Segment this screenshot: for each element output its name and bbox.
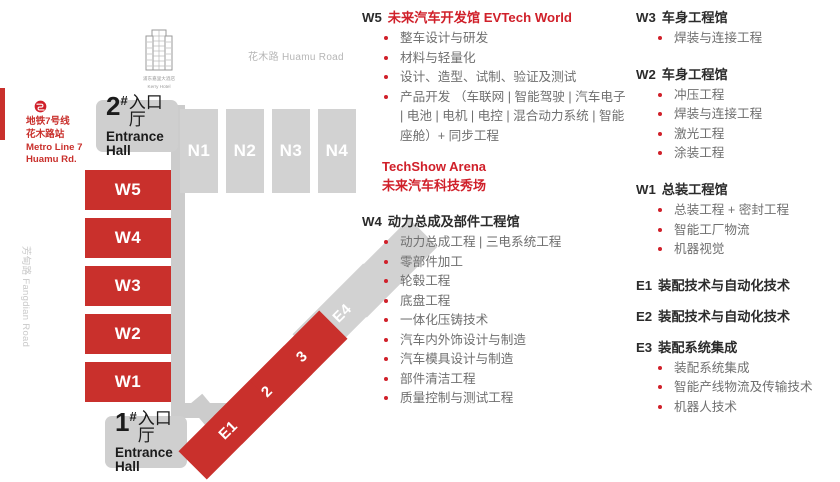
- hall-e1[interactable]: E1: [179, 381, 278, 480]
- section-w2-title: 车身工程馆: [662, 65, 840, 84]
- hall-w1[interactable]: W1: [85, 362, 171, 402]
- section-w1-title: 总装工程馆: [662, 180, 840, 199]
- section-e2-code: E2: [636, 307, 652, 326]
- entrance-2-label-cn: 入口厅: [129, 94, 170, 128]
- list-item: 智能产线物流及传输技术: [656, 378, 840, 398]
- section-e3-title: 装配系统集成: [658, 338, 840, 357]
- hall-w3[interactable]: W3: [85, 266, 171, 306]
- hall-description-column-middle: W5 未来汽车开发馆 EVTech World 整车设计与研发 材料与轻量化 设…: [362, 8, 630, 414]
- list-item: 部件清洁工程: [382, 370, 630, 390]
- section-w4-heading: W4 动力总成及部件工程馆: [362, 212, 630, 231]
- section-w1: W1 总装工程馆 总装工程 + 密封工程 智能工厂物流 机器视觉: [636, 180, 840, 260]
- section-w1-items: 总装工程 + 密封工程 智能工厂物流 机器视觉: [656, 201, 840, 260]
- section-w3-items: 焊装与连接工程: [656, 29, 840, 49]
- list-item: 焊装与连接工程: [656, 105, 840, 125]
- section-w5-items: 整车设计与研发 材料与轻量化 设计、造型、试制、验证及测试 产品开发 （车联网 …: [382, 29, 630, 146]
- section-w2-heading: W2 车身工程馆: [636, 65, 840, 84]
- spacer: [636, 265, 840, 276]
- metro-line-en: Metro Line 7: [26, 142, 90, 155]
- list-item: 质量控制与测试工程: [382, 389, 630, 409]
- list-item: 产品开发 （车联网 | 智能驾驶 | 汽车电子 | 电池 | 电机 | 电控 |…: [382, 88, 630, 147]
- list-item: 材料与轻量化: [382, 49, 630, 69]
- spacer: [636, 54, 840, 65]
- hall-n4[interactable]: N4: [318, 109, 356, 193]
- section-w2-items: 冲压工程 焊装与连接工程 激光工程 涂装工程: [656, 86, 840, 164]
- hall-w5[interactable]: W5: [85, 170, 171, 210]
- hotel-building-icon: [144, 28, 174, 74]
- section-w5-code: W5: [362, 8, 382, 27]
- section-w1-heading: W1 总装工程馆: [636, 180, 840, 199]
- section-w5-heading: W5 未来汽车开发馆 EVTech World: [362, 8, 630, 27]
- section-e3-heading: E3 装配系统集成: [636, 338, 840, 357]
- techshow-arena-highlight: TechShow Arena 未来汽车科技秀场: [382, 158, 630, 196]
- list-item: 冲压工程: [656, 86, 840, 106]
- hotel-label-cn: 浦东嘉里大酒店: [133, 76, 185, 82]
- section-e1-code: E1: [636, 276, 652, 295]
- kerry-hotel-marker: 浦东嘉里大酒店 Kerry Hotel: [133, 28, 185, 90]
- list-item: 涂装工程: [656, 144, 840, 164]
- metro-station-en: Huamu Rd.: [26, 154, 90, 167]
- section-w3-heading: W3 车身工程馆: [636, 8, 840, 27]
- hall-n2[interactable]: N2: [226, 109, 264, 193]
- section-w4-title: 动力总成及部件工程馆: [388, 212, 630, 231]
- list-item: 底盘工程: [382, 292, 630, 312]
- list-item: 轮毂工程: [382, 272, 630, 292]
- spacer: [636, 169, 840, 180]
- list-item: 零部件加工: [382, 253, 630, 273]
- section-e2: E2 装配技术与自动化技术: [636, 307, 840, 326]
- list-item: 设计、造型、试制、验证及测试: [382, 68, 630, 88]
- spacer: [362, 196, 630, 212]
- section-e3: E3 装配系统集成 装配系统集成 智能产线物流及传输技术 机器人技术: [636, 338, 840, 418]
- techshow-arena-cn: 未来汽车科技秀场: [382, 177, 630, 196]
- walkway-west-spine: [171, 160, 185, 415]
- entrance-hall-2[interactable]: 2 # 入口厅 Entrance Hall: [96, 100, 178, 152]
- section-e3-code: E3: [636, 338, 652, 357]
- section-e3-items: 装配系统集成 智能产线物流及传输技术 机器人技术: [656, 359, 840, 418]
- hotel-label-en: Kerry Hotel: [133, 84, 185, 90]
- list-item: 装配系统集成: [656, 359, 840, 379]
- metro-station-cn: 花木路站: [26, 129, 90, 142]
- metro-station-marker: 地铁7号线 花木路站 Metro Line 7 Huamu Rd.: [26, 100, 90, 167]
- list-item: 机器视觉: [656, 240, 840, 260]
- hall-n3[interactable]: N3: [272, 109, 310, 193]
- techshow-arena-en: TechShow Arena: [382, 158, 630, 177]
- entrance-1-label-cn: 入口厅: [138, 410, 179, 444]
- section-w4-code: W4: [362, 212, 382, 231]
- section-e1-title: 装配技术与自动化技术: [658, 276, 840, 295]
- section-w4: W4 动力总成及部件工程馆 动力总成工程 | 三电系统工程 零部件加工 轮毂工程…: [362, 212, 630, 409]
- section-w5: W5 未来汽车开发馆 EVTech World 整车设计与研发 材料与轻量化 设…: [362, 8, 630, 146]
- list-item: 动力总成工程 | 三电系统工程: [382, 233, 630, 253]
- venue-floor-map: 浦东嘉里大酒店 Kerry Hotel 花木路 Huamu Road 芳甸路 F…: [0, 0, 362, 482]
- entrance-1-hash: #: [129, 410, 136, 423]
- hall-w4[interactable]: W4: [85, 218, 171, 258]
- section-w2-code: W2: [636, 65, 656, 84]
- section-e2-heading: E2 装配技术与自动化技术: [636, 307, 840, 326]
- section-w3-title: 车身工程馆: [662, 8, 840, 27]
- road-label-fangdian: 芳甸路 Fangdian Road: [20, 246, 34, 347]
- section-w5-title-cn: 未来汽车开发馆: [388, 10, 480, 25]
- metro-logo-icon: [34, 100, 47, 113]
- section-w4-items: 动力总成工程 | 三电系统工程 零部件加工 轮毂工程 底盘工程 一体化压铸技术 …: [382, 233, 630, 409]
- section-w2: W2 车身工程馆 冲压工程 焊装与连接工程 激光工程 涂装工程: [636, 65, 840, 164]
- entrance-1-label-en: Entrance Hall: [115, 446, 179, 473]
- section-w5-title: 未来汽车开发馆 EVTech World: [388, 8, 630, 27]
- entrance-2-number: 2: [106, 94, 120, 119]
- hall-n1[interactable]: N1: [180, 109, 218, 193]
- list-item: 智能工厂物流: [656, 221, 840, 241]
- section-e2-title: 装配技术与自动化技术: [658, 307, 840, 326]
- section-e1: E1 装配技术与自动化技术: [636, 276, 840, 295]
- hall-description-column-right: W3 车身工程馆 焊装与连接工程 W2 车身工程馆 冲压工程 焊装与连接工程 激…: [636, 8, 840, 423]
- spacer: [636, 300, 840, 307]
- metro-line-cn: 地铁7号线: [26, 116, 90, 129]
- section-w3: W3 车身工程馆 焊装与连接工程: [636, 8, 840, 49]
- entrance-1-number: 1: [115, 410, 129, 435]
- list-item: 汽车模具设计与制造: [382, 350, 630, 370]
- list-item: 总装工程 + 密封工程: [656, 201, 840, 221]
- section-e1-heading: E1 装配技术与自动化技术: [636, 276, 840, 295]
- entrance-2-label-en: Entrance Hall: [106, 130, 170, 157]
- list-item: 整车设计与研发: [382, 29, 630, 49]
- hall-w2[interactable]: W2: [85, 314, 171, 354]
- entrance-hall-1[interactable]: 1 # 入口厅 Entrance Hall: [105, 416, 187, 468]
- section-w3-code: W3: [636, 8, 656, 27]
- entrance-2-hash: #: [120, 94, 127, 107]
- section-w1-code: W1: [636, 180, 656, 199]
- list-item: 机器人技术: [656, 398, 840, 418]
- list-item: 焊装与连接工程: [656, 29, 840, 49]
- list-item: 一体化压铸技术: [382, 311, 630, 331]
- list-item: 激光工程: [656, 125, 840, 145]
- section-w5-title-en: EVTech World: [484, 10, 572, 25]
- list-item: 汽车内外饰设计与制造: [382, 331, 630, 351]
- road-label-huamu: 花木路 Huamu Road: [248, 48, 344, 63]
- spacer: [636, 331, 840, 338]
